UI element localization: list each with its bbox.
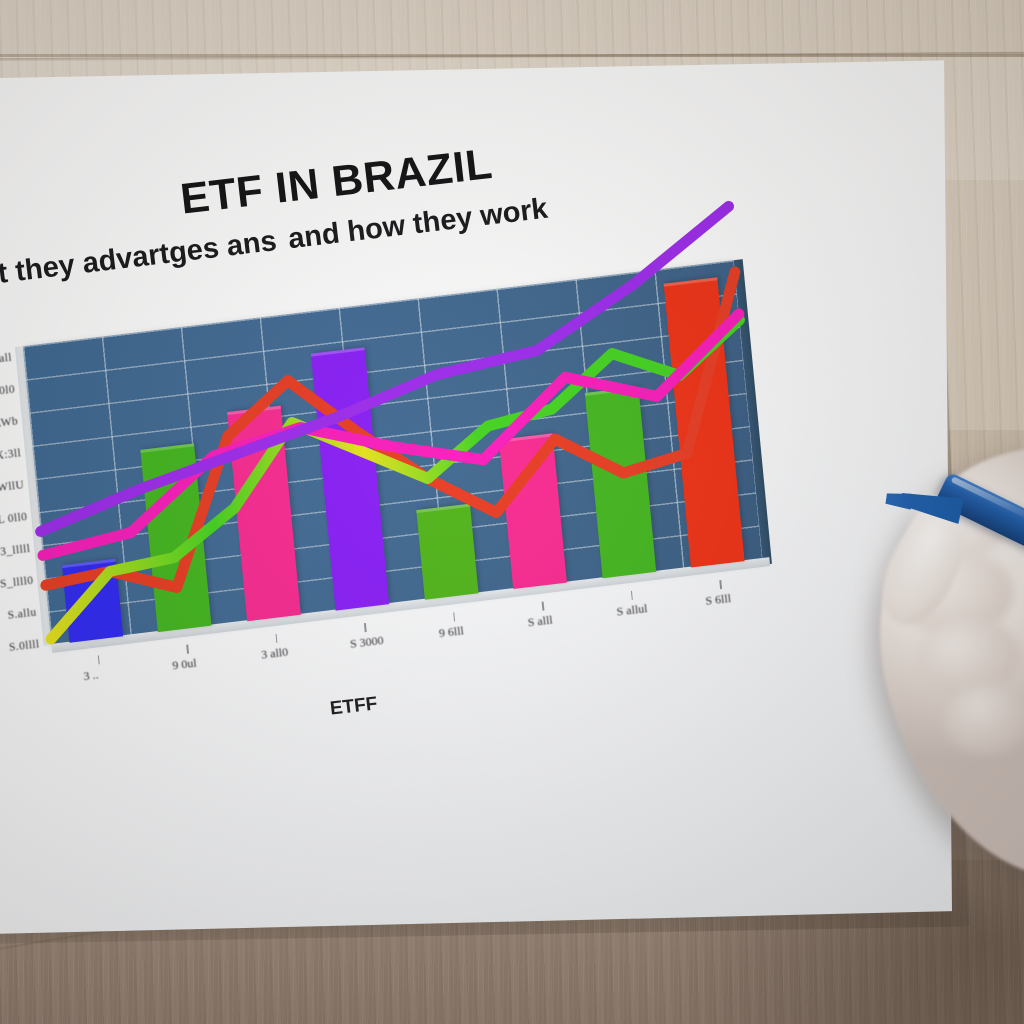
pen-nib <box>885 490 913 509</box>
screenshot-stage: ETF IN BRAZIL yat they advartges ansand … <box>0 0 1024 1024</box>
hand-and-pen-layer <box>0 0 1024 1024</box>
